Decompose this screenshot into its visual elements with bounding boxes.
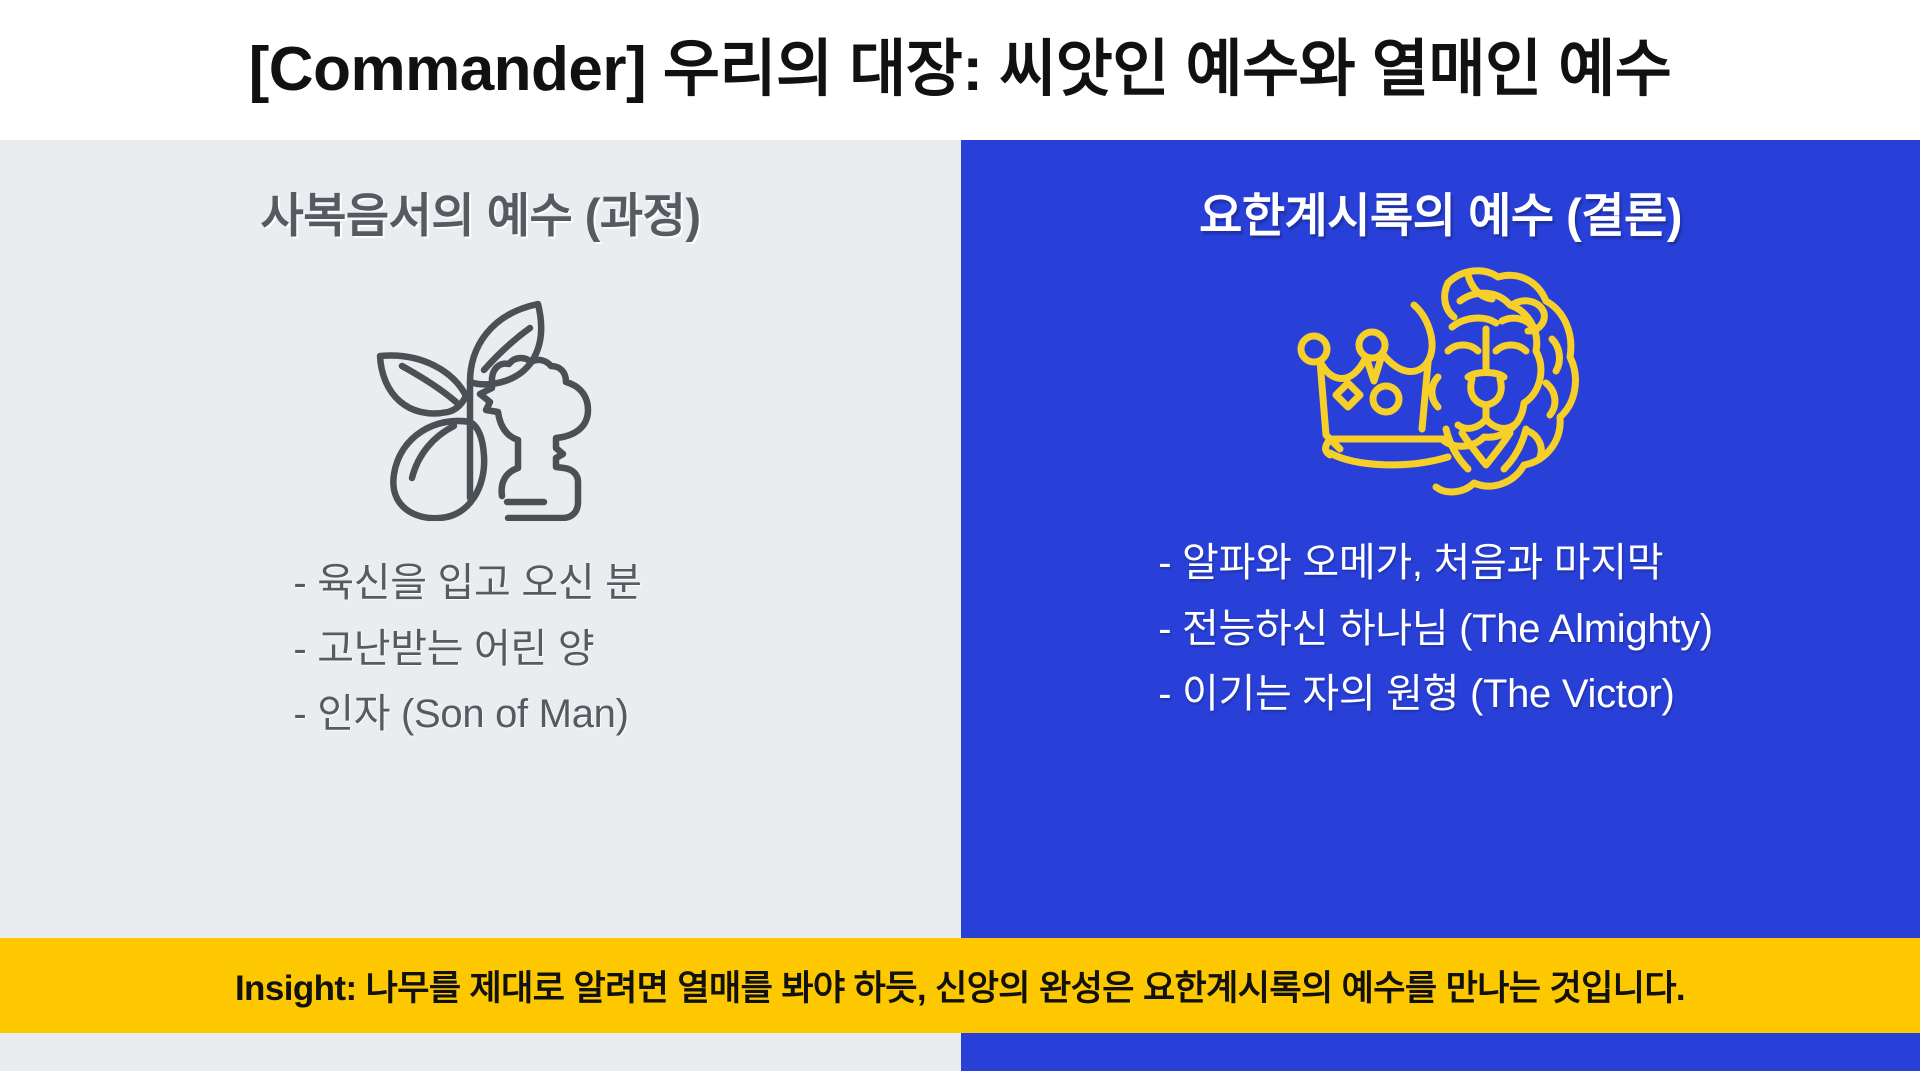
insight-text: Insight: 나무를 제대로 알려면 열매를 봐야 하듯, 신앙의 완성은 … <box>235 960 1685 1011</box>
seedling-lamb-icon <box>366 278 596 528</box>
panel-revelation: 요한계시록의 예수 (결론) <box>961 140 1920 1071</box>
panel-gospels: 사복음서의 예수 (과정) <box>0 140 961 1071</box>
slide-root: [Commander] 우리의 대장: 씨앗인 예수와 열매인 예수 사복음서의… <box>0 0 1920 1071</box>
comparison-body: 사복음서의 예수 (과정) <box>0 140 1920 1071</box>
slide-header: [Commander] 우리의 대장: 씨앗인 예수와 열매인 예수 <box>0 0 1920 140</box>
insight-banner: Insight: 나무를 제대로 알려면 열매를 봐야 하듯, 신앙의 완성은 … <box>0 938 1920 1033</box>
crowned-lion-icon <box>1296 258 1586 508</box>
list-item: - 알파와 오메가, 처음과 마지막 <box>1158 538 1713 589</box>
panel-revelation-bullets: - 알파와 오메가, 처음과 마지막 - 전능하신 하나님 (The Almig… <box>1158 538 1713 720</box>
list-item: - 전능하신 하나님 (The Almighty) <box>1158 604 1713 655</box>
list-item: - 이기는 자의 원형 (The Victor) <box>1158 669 1713 720</box>
panel-revelation-heading: 요한계시록의 예수 (결론) <box>1199 188 1682 244</box>
panel-gospels-heading: 사복음서의 예수 (과정) <box>260 188 700 244</box>
panel-gospels-bullets: - 육신을 입고 오신 분 - 고난받는 어린 양 - 인자 (Son of M… <box>293 558 641 740</box>
page-title: [Commander] 우리의 대장: 씨앗인 예수와 열매인 예수 <box>249 37 1672 102</box>
list-item: - 고난받는 어린 양 <box>293 624 641 675</box>
list-item: - 육신을 입고 오신 분 <box>293 558 641 609</box>
list-item: - 인자 (Son of Man) <box>293 689 641 740</box>
